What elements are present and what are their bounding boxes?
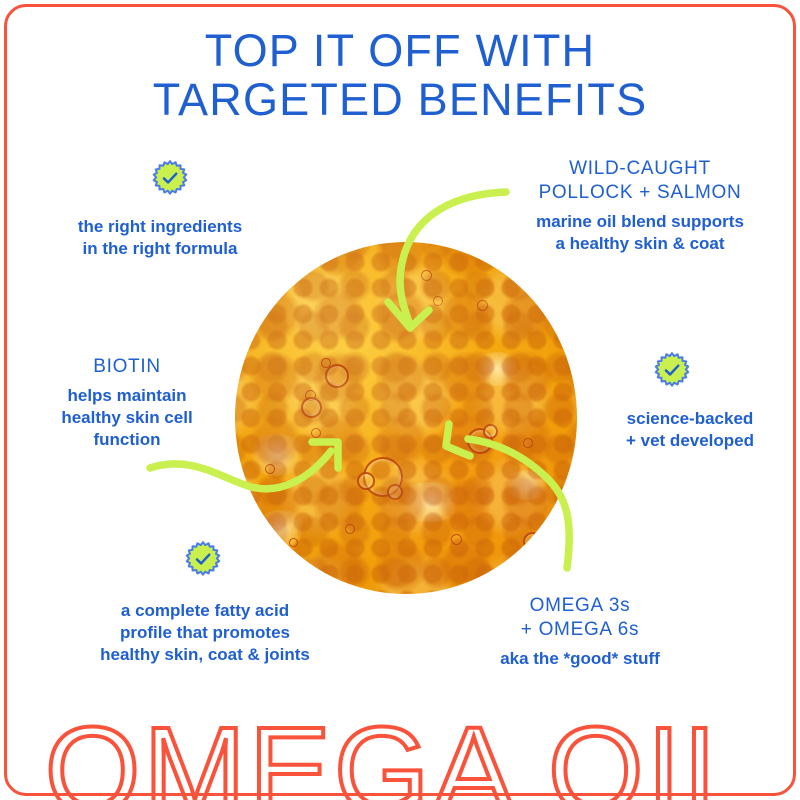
oil-bubble [311, 428, 321, 438]
callout-fatty-acid: a complete fatty acid profile that promo… [60, 594, 350, 666]
callout-body: science-backed + vet developed [590, 408, 790, 452]
oil-bubble [265, 464, 275, 474]
check-badge-icon [184, 541, 222, 579]
callout-body: marine oil blend supports a healthy skin… [490, 211, 790, 255]
callout-body-line: marine oil blend supports [490, 211, 790, 233]
oil-bubble [357, 472, 375, 490]
callout-science-backed: science-backed + vet developed [590, 408, 790, 452]
oil-bubble [305, 390, 316, 401]
callout-body-line: a healthy skin & coat [490, 233, 790, 255]
callout-title-line: POLLOCK + SALMON [490, 181, 790, 205]
oil-bubble [523, 532, 542, 551]
callout-body-line: + vet developed [590, 430, 790, 452]
callout-body-line: aka the *good* stuff [440, 648, 720, 670]
callout-body-line: healthy skin, coat & joints [60, 644, 350, 666]
oil-sheen [395, 482, 465, 522]
oil-bubble [433, 296, 443, 306]
callout-body-line: a complete fatty acid [60, 600, 350, 622]
callout-biotin: BIOTIN helps maintain healthy skin cell … [0, 355, 258, 451]
callout-title-line: + OMEGA 6s [440, 618, 720, 642]
omega-oil-droplet-photo [235, 242, 577, 594]
callout-title: BIOTIN [0, 355, 258, 379]
oil-circle [235, 242, 577, 594]
oil-bubble [477, 300, 488, 311]
callout-title-line: OMEGA 3s [440, 594, 720, 618]
checkmark-badge-right-formula [151, 160, 189, 198]
callout-title: WILD-CAUGHT POLLOCK + SALMON [490, 157, 790, 205]
callout-body: helps maintain healthy skin cell functio… [0, 385, 258, 451]
callout-title-line: WILD-CAUGHT [490, 157, 790, 181]
callout-body: the right ingredients in the right formu… [10, 216, 310, 260]
oil-bubble [421, 270, 432, 281]
page-title: TOP IT OFF WITH TARGETED BENEFITS [0, 26, 800, 124]
oil-bubble [301, 397, 322, 418]
headline-line-2: TARGETED BENEFITS [0, 75, 800, 124]
callout-body-line: the right ingredients [10, 216, 310, 238]
oil-bubble [345, 524, 355, 534]
oil-bubble [451, 534, 462, 545]
callout-body: a complete fatty acid profile that promo… [60, 600, 350, 666]
callout-body-line: healthy skin cell [0, 407, 258, 429]
callout-right-formula: the right ingredients in the right formu… [10, 216, 310, 260]
oil-sheen [253, 510, 309, 546]
oil-bubble [387, 484, 403, 500]
oil-sheen [471, 352, 523, 386]
callout-title: OMEGA 3s + OMEGA 6s [440, 594, 720, 642]
callout-title-line: BIOTIN [0, 355, 258, 379]
oil-bubble [321, 358, 331, 368]
check-badge-icon [653, 352, 691, 390]
oil-bubble [523, 438, 533, 448]
callout-body-line: function [0, 429, 258, 451]
checkmark-badge-science [653, 352, 691, 390]
callout-body-line: science-backed [590, 408, 790, 430]
infographic-canvas: TOP IT OFF WITH TARGETED BENEFITS the ri… [0, 0, 800, 800]
oil-bubble [467, 428, 493, 454]
oil-bubble-cluster [363, 457, 403, 497]
callout-wild-caught: WILD-CAUGHT POLLOCK + SALMON marine oil … [490, 157, 790, 255]
callout-body-line: helps maintain [0, 385, 258, 407]
oil-sheen [503, 470, 551, 500]
oil-bubble [289, 538, 298, 547]
callout-body: aka the *good* stuff [440, 648, 720, 670]
check-badge-icon [151, 160, 189, 198]
callout-body-line: in the right formula [10, 238, 310, 260]
product-wordmark: OMEGA OIL [0, 710, 800, 800]
headline-line-1: TOP IT OFF WITH [0, 26, 800, 75]
oil-bubble [325, 364, 349, 388]
oil-bubble [483, 424, 498, 439]
callout-body-line: profile that promotes [60, 622, 350, 644]
checkmark-badge-fatty-acid [184, 541, 222, 579]
callout-omega-3-6: OMEGA 3s + OMEGA 6s aka the *good* stuff [440, 594, 720, 670]
